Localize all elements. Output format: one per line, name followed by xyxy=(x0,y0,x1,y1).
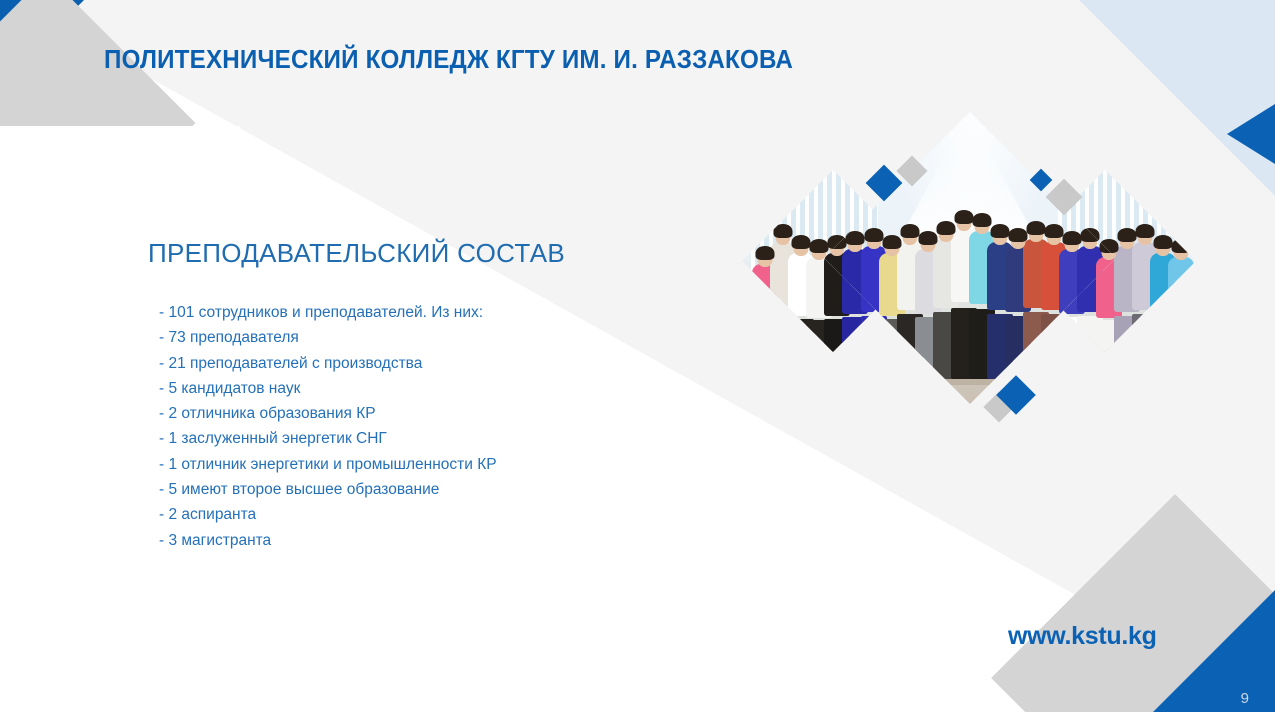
top-left-mask xyxy=(0,126,240,326)
page-title: ПОЛИТЕХНИЧЕСКИЙ КОЛЛЕДЖ КГТУ ИМ. И. РАЗЗ… xyxy=(104,44,793,75)
photo-person-hair xyxy=(774,224,793,238)
list-item: - 2 отличника образования КР xyxy=(159,401,497,426)
list-item: - 1 заслуженный энергетик СНГ xyxy=(159,426,497,451)
photo-person-hair xyxy=(1063,231,1082,245)
photo-person-hair xyxy=(810,239,829,253)
photo-person-lower xyxy=(842,317,868,352)
staff-facts-list: - 101 сотрудников и преподавателей. Из н… xyxy=(159,300,497,553)
photo-person-hair xyxy=(846,231,865,245)
photo-person-hair xyxy=(973,213,992,227)
photo-person-hair xyxy=(756,246,775,260)
list-item: - 5 имеют второе высшее образование xyxy=(159,477,497,502)
photo-person-lower xyxy=(1041,314,1067,379)
photo-person-hair xyxy=(1171,239,1190,253)
photo-person-hair xyxy=(792,235,811,249)
photo-person-hair xyxy=(1153,235,1172,249)
photo-person-hair xyxy=(918,231,937,245)
photo-person-lower xyxy=(861,316,887,379)
photo-person-hair xyxy=(954,210,973,224)
photo-person-hair xyxy=(936,221,955,235)
photo-people-row xyxy=(824,199,1116,379)
photo-person-hair xyxy=(882,235,901,249)
list-item: - 21 преподавателей с производства xyxy=(159,351,497,376)
photo-collage xyxy=(742,112,1194,412)
photo-person-hair xyxy=(1009,228,1028,242)
photo-person-hair xyxy=(1045,224,1064,238)
photo-red-carpet xyxy=(824,385,1116,404)
photo-person-lower xyxy=(1132,314,1158,352)
photo-person-hair xyxy=(1027,221,1046,235)
photo-person-hair xyxy=(864,228,883,242)
list-item: - 5 кандидатов наук xyxy=(159,376,497,401)
list-item: - 3 магистранта xyxy=(159,528,497,553)
photo-person-lower xyxy=(1150,319,1176,352)
photo-diamond-center xyxy=(824,112,1116,404)
photo-person-hair xyxy=(1135,224,1154,238)
list-item: - 101 сотрудников и преподавателей. Из н… xyxy=(159,300,497,325)
photo-person-lower xyxy=(1168,320,1194,352)
list-item: - 73 преподавателя xyxy=(159,325,497,350)
photo-person-lower xyxy=(752,323,778,352)
page-number: 9 xyxy=(1241,691,1249,706)
photo-person-torso xyxy=(1168,257,1194,319)
website-url[interactable]: www.kstu.kg xyxy=(1008,622,1157,651)
list-item: - 1 отличник энергетики и промышленности… xyxy=(159,452,497,477)
section-heading: ПРЕПОДАВАТЕЛЬСКИЙ СОСТАВ xyxy=(148,238,565,269)
photo-person-lower xyxy=(861,316,887,352)
list-item: - 2 аспиранта xyxy=(159,502,497,527)
slide-canvas: ПОЛИТЕХНИЧЕСКИЙ КОЛЛЕДЖ КГТУ ИМ. И. РАЗЗ… xyxy=(0,0,1275,712)
photo-person-lower xyxy=(770,314,796,352)
photo-person-hair xyxy=(1117,228,1136,242)
group-photo-image xyxy=(824,112,1116,404)
photo-person xyxy=(1167,239,1195,352)
photo-person-hair xyxy=(900,224,919,238)
photo-person-hair xyxy=(991,224,1010,238)
